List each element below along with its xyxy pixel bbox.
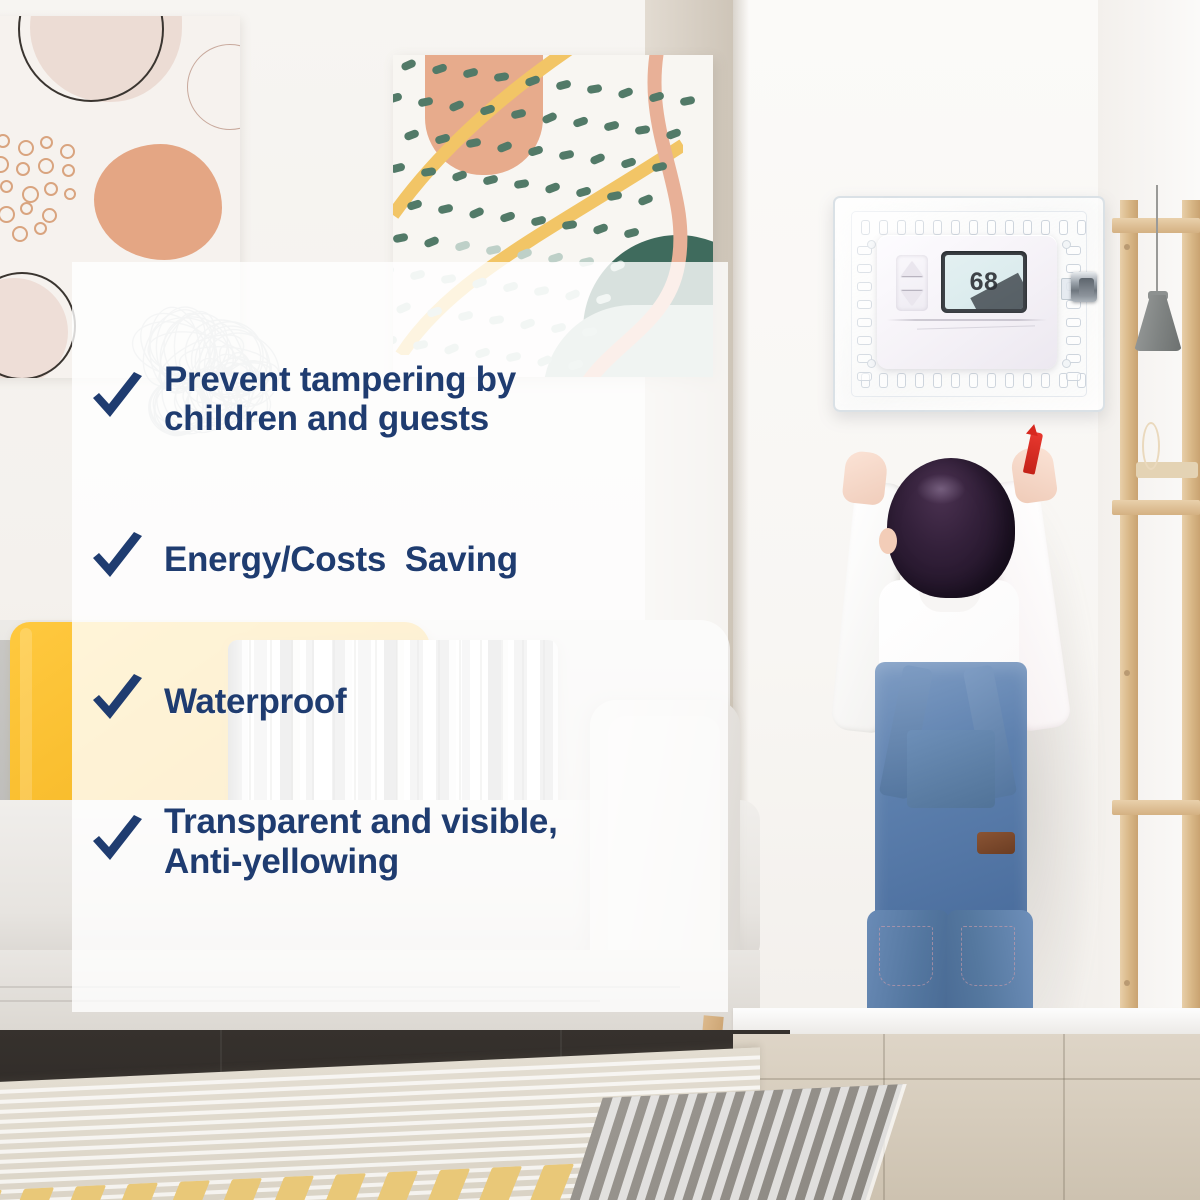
pendant-lamp-cord xyxy=(1156,185,1158,297)
red-crayon-tip xyxy=(1026,423,1040,436)
feature-item: Transparent and visible, Anti-yellowing xyxy=(88,802,728,880)
product-feature-graphic: 68 xyxy=(0,0,1200,1200)
check-icon xyxy=(88,530,146,588)
child-left-hand xyxy=(841,450,888,506)
wall-art-abstract-dashes xyxy=(393,55,713,377)
check-icon xyxy=(88,672,146,730)
check-icon xyxy=(88,370,146,428)
area-rug-gray-corner xyxy=(557,1084,902,1200)
thermostat-lcd: 68 xyxy=(941,251,1027,313)
feature-item: Energy/Costs Saving xyxy=(88,530,728,588)
feature-text: Energy/Costs Saving xyxy=(164,540,518,579)
check-icon xyxy=(88,813,146,871)
baseboard xyxy=(733,1008,1200,1034)
temperature-arrow-pad[interactable] xyxy=(896,255,928,311)
cam-lock[interactable] xyxy=(1063,272,1097,302)
sofa-skirt xyxy=(0,950,760,1032)
feature-list: Prevent tampering by children and guests… xyxy=(88,360,728,881)
thermostat-device: 68 xyxy=(877,235,1057,369)
feature-text: Waterproof xyxy=(164,682,346,721)
feature-item: Waterproof xyxy=(88,672,728,730)
feature-text: Transparent and visible, Anti-yellowing xyxy=(164,802,558,880)
denim-leather-patch xyxy=(977,832,1015,854)
down-arrow-button[interactable] xyxy=(901,291,923,306)
feature-item: Prevent tampering by children and guests xyxy=(88,360,728,438)
feature-text: Prevent tampering by children and guests xyxy=(164,360,516,438)
up-arrow-button[interactable] xyxy=(901,261,923,276)
ring-dots-cluster xyxy=(0,134,84,246)
